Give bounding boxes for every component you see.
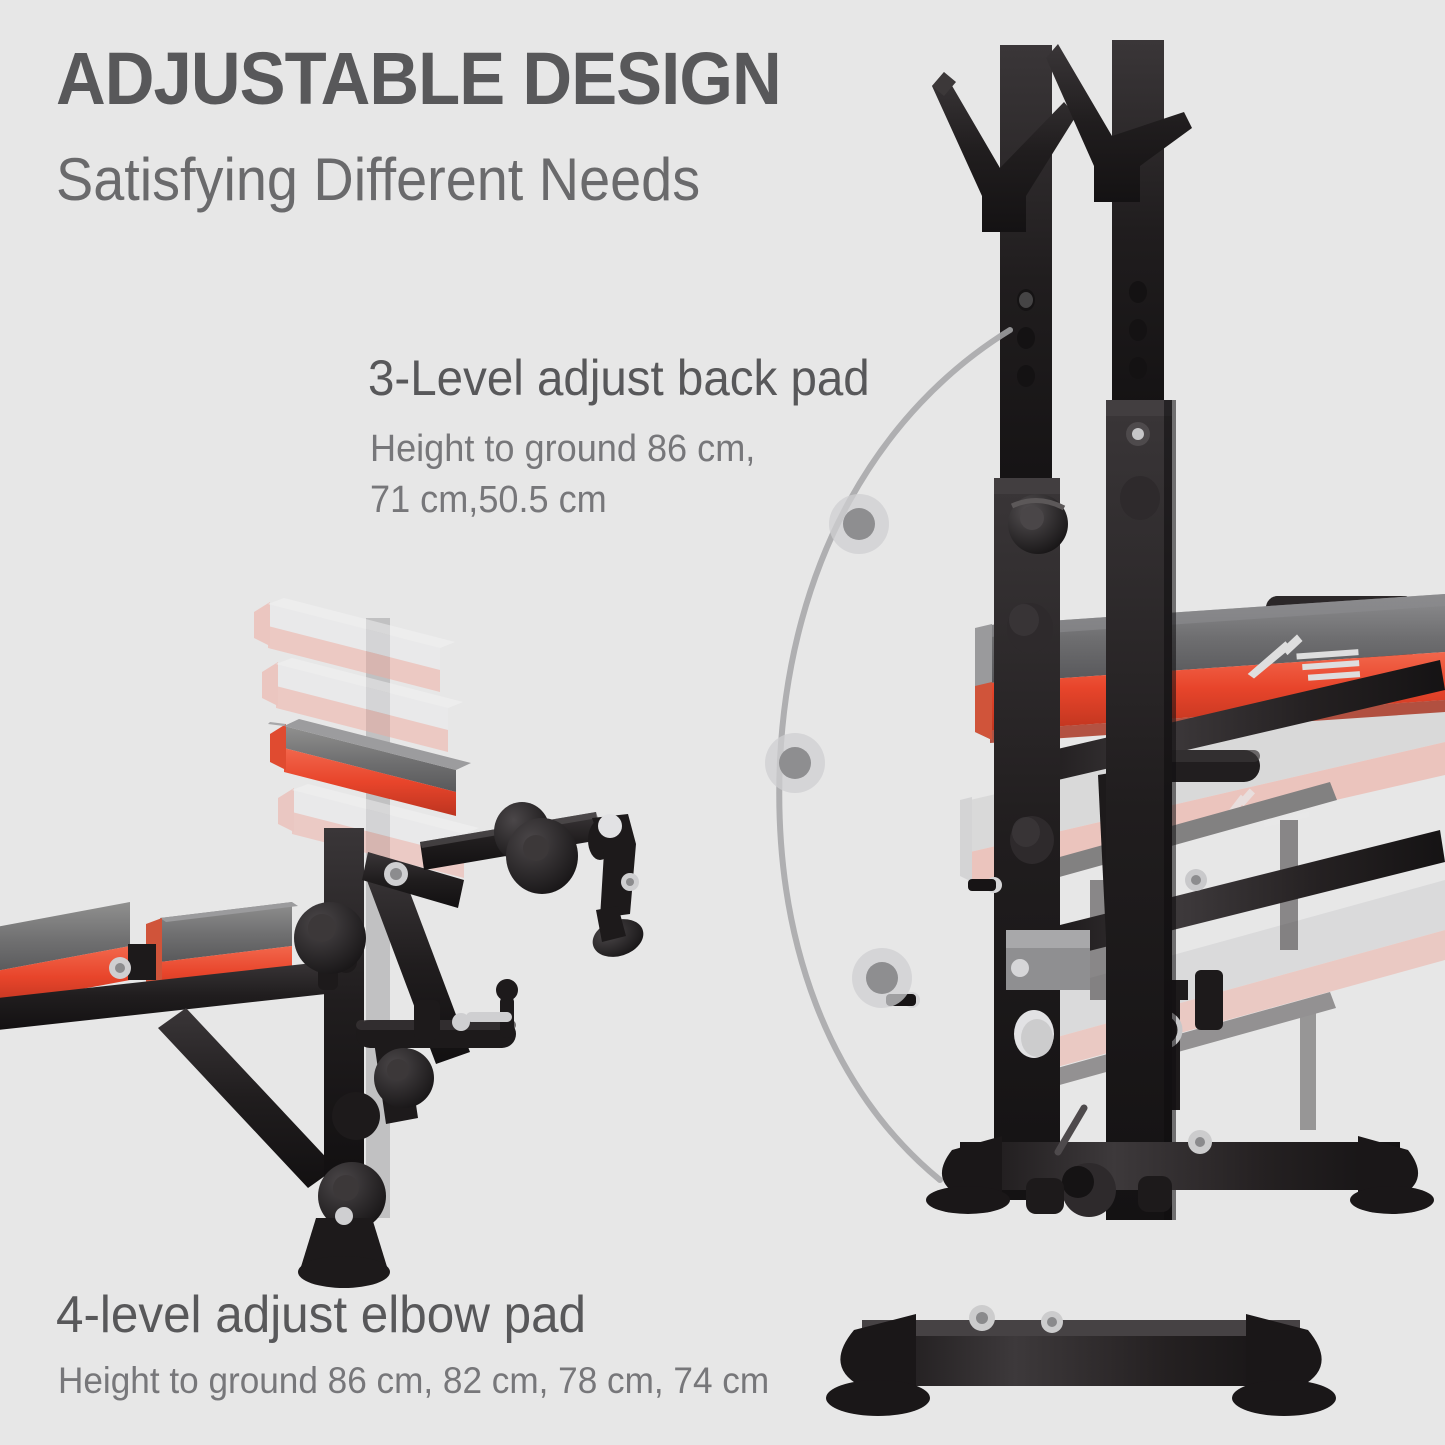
annotation-elbow-pad-title: 4-level adjust elbow pad	[56, 1288, 586, 1343]
page-subtitle: Satisfying Different Needs	[56, 150, 700, 210]
bench-frame-left	[0, 828, 518, 1288]
page-title: ADJUSTABLE DESIGN	[56, 42, 781, 116]
elbow-pad-adjustment-figure	[0, 0, 1445, 1445]
diagonal-brace	[158, 1008, 336, 1188]
poster-root: ADJUSTABLE DESIGN Satisfying Different N…	[0, 0, 1445, 1445]
annotation-back-pad-subtitle: Height to ground 86 cm, 71 cm,50.5 cm	[370, 424, 755, 527]
annotation-elbow-pad-subtitle: Height to ground 86 cm, 82 cm, 78 cm, 74…	[58, 1356, 769, 1406]
annotation-back-pad-title: 3-Level adjust back pad	[368, 352, 870, 405]
